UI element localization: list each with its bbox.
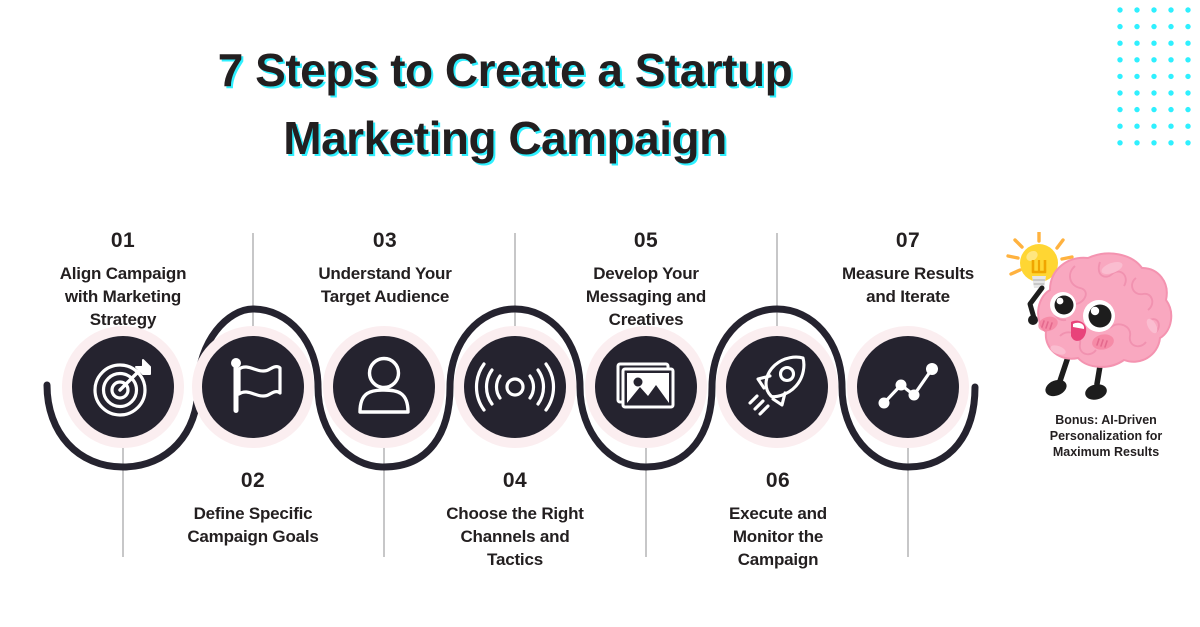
step-label-3: Understand YourTarget Audience (284, 262, 486, 308)
step-number-3: 03 (284, 228, 486, 254)
grid-dot (1151, 7, 1156, 12)
grid-dot (1185, 7, 1190, 12)
grid-dot (1117, 24, 1122, 29)
grid-dot (1168, 24, 1173, 29)
grid-dot (1117, 57, 1122, 62)
grid-dot (1168, 90, 1173, 95)
grid-dot (1151, 90, 1156, 95)
grid-dot (1134, 74, 1139, 79)
grid-dot (1185, 41, 1190, 46)
step-text-5: 05 Develop YourMessaging andCreatives (552, 228, 740, 331)
grid-dot (1168, 57, 1173, 62)
step-label-2: Define SpecificCampaign Goals (148, 502, 358, 548)
grid-dot (1134, 57, 1139, 62)
cyan-dot-grid-decoration (1116, 6, 1200, 154)
grid-dot (1134, 107, 1139, 112)
brain-foot-left (1043, 377, 1069, 399)
brain-hand-left (1028, 315, 1038, 325)
grid-dot (1117, 7, 1122, 12)
step-number-6: 06 (684, 468, 872, 494)
title-line-2: Marketing Campaign (0, 104, 1010, 172)
grid-dot (1151, 107, 1156, 112)
infographic-canvas: 7 Steps to Create a Startup Marketing Ca… (0, 0, 1200, 627)
brain-character-with-lightbulb (1000, 232, 1190, 417)
grid-dot (1117, 124, 1122, 129)
grid-dot (1151, 140, 1156, 145)
grid-dot (1134, 124, 1139, 129)
grid-dot (1168, 7, 1173, 12)
step-label-7: Measure Resultsand Iterate (808, 262, 1008, 308)
images-icon (618, 364, 673, 407)
grid-dot (1134, 24, 1139, 29)
grid-dot (1151, 74, 1156, 79)
step-circle-4[interactable] (464, 336, 566, 438)
grid-dot (1117, 107, 1122, 112)
step-label-6: Execute andMonitor theCampaign (684, 502, 872, 571)
step-circle-2[interactable] (202, 336, 304, 438)
grid-dot (1151, 41, 1156, 46)
grid-dot (1168, 74, 1173, 79)
grid-dot (1185, 74, 1190, 79)
title-line-1: 7 Steps to Create a Startup (0, 36, 1010, 104)
step-number-7: 07 (808, 228, 1008, 254)
step-text-7: 07 Measure Resultsand Iterate (808, 228, 1008, 308)
step-text-1: 01 Align Campaignwith MarketingStrategy (18, 228, 228, 331)
grid-dot (1185, 107, 1190, 112)
grid-dot (1117, 41, 1122, 46)
step-label-1: Align Campaignwith MarketingStrategy (18, 262, 228, 331)
step-number-4: 04 (414, 468, 616, 494)
grid-dot (1168, 107, 1173, 112)
step-text-3: 03 Understand YourTarget Audience (284, 228, 486, 308)
grid-dot (1168, 41, 1173, 46)
grid-dot (1151, 57, 1156, 62)
step-text-4: 04 Choose the RightChannels andTactics (414, 468, 616, 571)
step-number-2: 02 (148, 468, 358, 494)
step-text-6: 06 Execute andMonitor theCampaign (684, 468, 872, 571)
grid-dot (1134, 90, 1139, 95)
step-label-4: Choose the RightChannels andTactics (414, 502, 616, 571)
grid-dot (1168, 124, 1173, 129)
step-circle-7[interactable] (857, 336, 959, 438)
step-number-5: 05 (552, 228, 740, 254)
step-label-5: Develop YourMessaging andCreatives (552, 262, 740, 331)
grid-dot (1185, 57, 1190, 62)
step-number-1: 01 (18, 228, 228, 254)
grid-dot (1185, 140, 1190, 145)
page-title: 7 Steps to Create a Startup Marketing Ca… (0, 36, 1010, 172)
grid-dot (1185, 24, 1190, 29)
step-text-2: 02 Define SpecificCampaign Goals (148, 468, 358, 548)
grid-dot (1117, 90, 1122, 95)
grid-dot (1134, 140, 1139, 145)
grid-dot (1134, 7, 1139, 12)
grid-dot (1185, 124, 1190, 129)
grid-dot (1117, 140, 1122, 145)
grid-dot (1168, 140, 1173, 145)
grid-dot (1151, 124, 1156, 129)
grid-dot (1134, 41, 1139, 46)
grid-dot (1117, 74, 1122, 79)
step-circle-6[interactable] (726, 336, 828, 438)
grid-dot (1151, 24, 1156, 29)
bonus-caption: Bonus: AI-DrivenPersonalization forMaxim… (1018, 412, 1194, 460)
grid-dot (1185, 90, 1190, 95)
brain-foot-right (1084, 382, 1109, 402)
